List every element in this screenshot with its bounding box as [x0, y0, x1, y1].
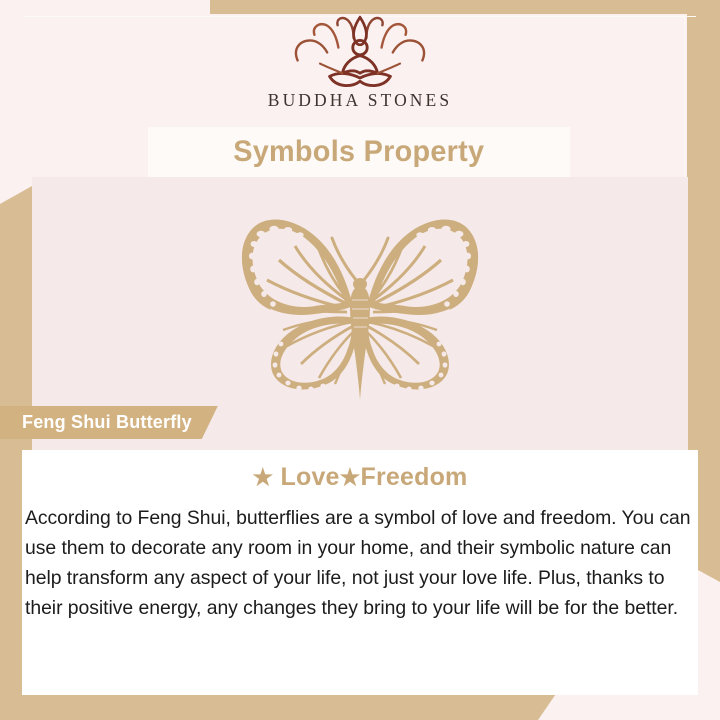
lotus-meditation-figure-icon: [280, 14, 440, 86]
brand-name: BUDDHA STONES: [268, 90, 452, 111]
star-icon-middle: ★: [340, 464, 361, 490]
brand-header: BUDDHA STONES: [0, 14, 720, 126]
feng-shui-butterfly-tag: Feng Shui Butterfly: [0, 406, 218, 439]
page-title: Symbols Property: [233, 135, 484, 169]
tag-label: Feng Shui Butterfly: [22, 412, 192, 433]
section-title-banner: Symbols Property: [148, 127, 570, 177]
frame-top-bar: [210, 0, 720, 14]
star-icon-left: ★: [253, 464, 274, 490]
description-paragraph: According to Feng Shui, butterflies are …: [22, 503, 698, 623]
description-card: ★ Love★Freedom According to Feng Shui, b…: [22, 450, 698, 695]
heading-word-freedom: Freedom: [360, 463, 467, 491]
promo-graphic-page: BUDDHA STONES Symbols Property: [0, 0, 720, 720]
heading-word-love: Love: [281, 463, 340, 491]
love-freedom-heading: ★ Love★Freedom: [22, 463, 698, 492]
butterfly-icon: [195, 214, 525, 414]
